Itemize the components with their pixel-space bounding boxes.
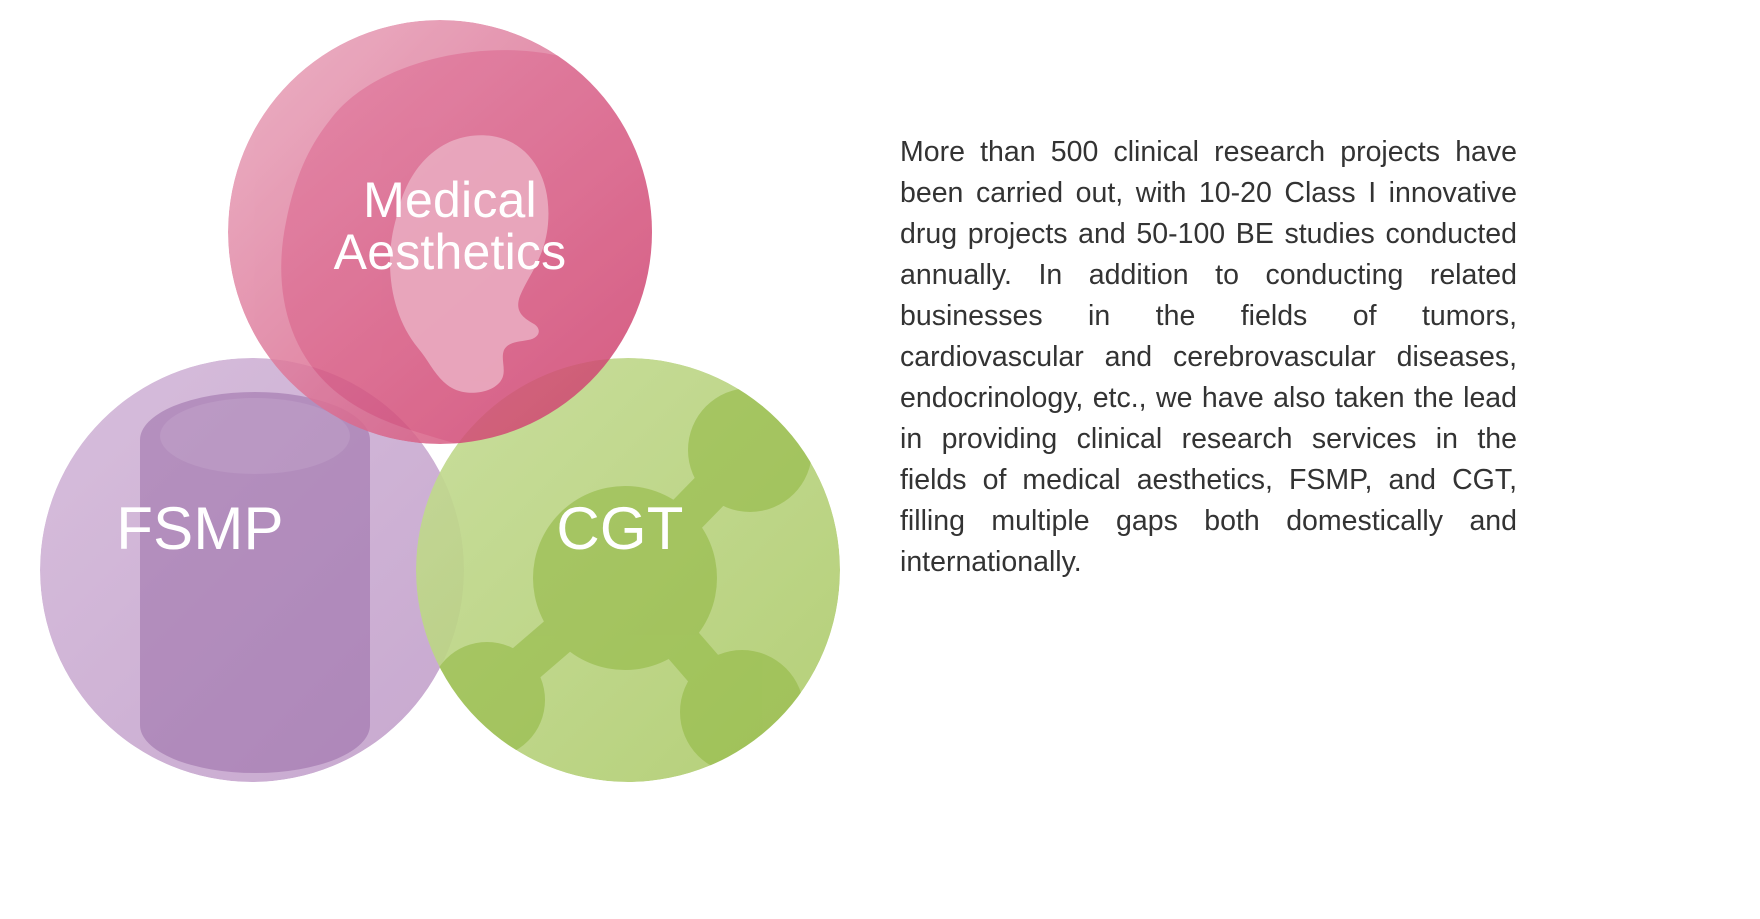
venn-diagram: Medical Aesthetics FSMP CGT [0, 0, 880, 820]
description-block: More than 500 clinical research projects… [900, 132, 1517, 583]
cylinder-canister-icon [140, 392, 370, 773]
venn-diagram-graphic [0, 0, 880, 820]
description-paragraph: More than 500 clinical research projects… [900, 132, 1517, 583]
slide-canvas: Medical Aesthetics FSMP CGT More than 50… [0, 0, 1760, 919]
